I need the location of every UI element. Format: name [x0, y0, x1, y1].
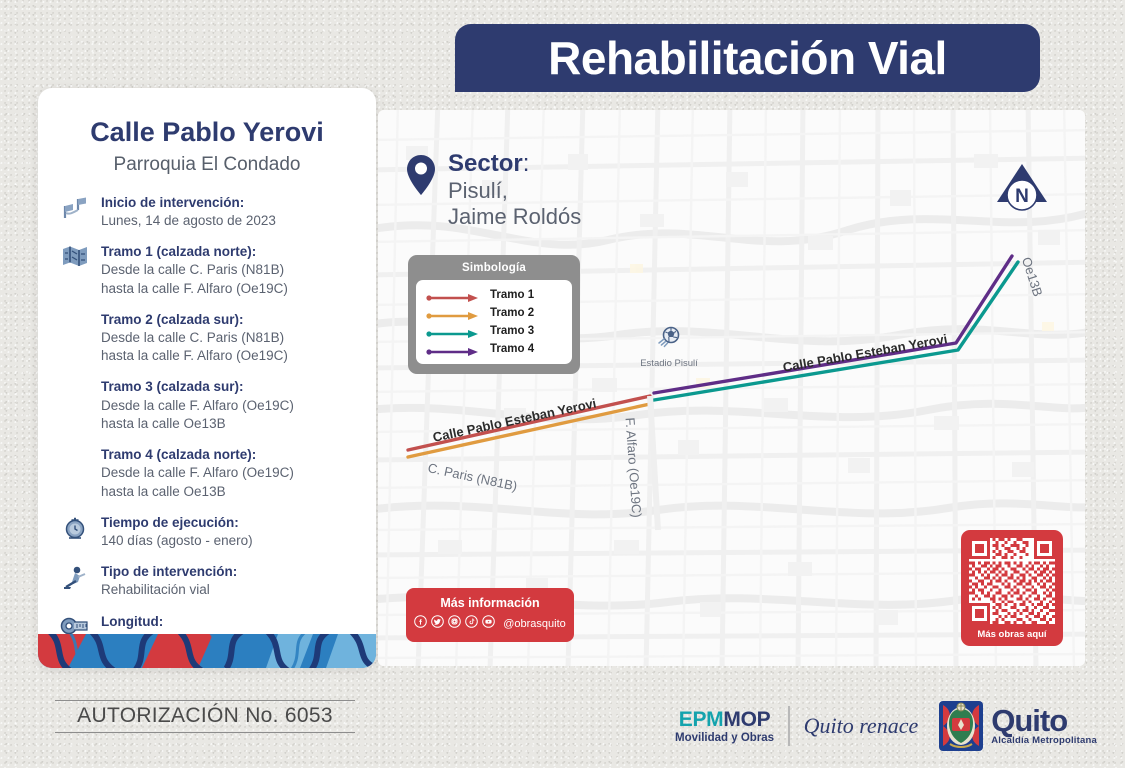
fact-tramo-4: Tramo 4 (calzada norte): Desde la calle …: [101, 446, 362, 501]
fact-tipo-intervencion: Tipo de intervención: Rehabilitación via…: [58, 563, 362, 599]
fact-value: 140 días (agosto - enero): [101, 532, 362, 550]
facts-list: Inicio de intervención: Lunes, 14 de ago…: [38, 194, 376, 649]
soccer-ball-icon: [656, 325, 682, 351]
fact-label: Tramo 2 (calzada sur):: [101, 311, 362, 329]
legend-items: Tramo 1 Tramo 2: [416, 280, 572, 364]
qr-code-panel[interactable]: Más obras aquí: [961, 530, 1063, 646]
street-name-title: Calle Pablo Yerovi: [56, 118, 358, 148]
fact-value: Desde la calle C. Paris (N81B)hasta la c…: [101, 261, 362, 297]
fact-value: Rehabilitación vial: [101, 581, 362, 599]
fact-tramo-2: Tramo 2 (calzada sur): Desde la calle C.…: [101, 311, 362, 366]
legend-color-swatch: [426, 290, 482, 300]
epmmop-tagline: Movilidad y Obras: [675, 732, 774, 744]
legend-label: Tramo 3: [490, 325, 534, 337]
fact-value: Lunes, 14 de agosto de 2023: [101, 212, 362, 230]
fact-tramo-1: Tramo 1 (calzada norte): Desde la calle …: [58, 243, 362, 298]
facebook-icon[interactable]: [414, 615, 427, 633]
page-title: Rehabilitación Vial: [548, 35, 947, 81]
fact-label: Tramo 1 (calzada norte):: [101, 243, 362, 261]
legend-title: Simbología: [416, 262, 572, 274]
fact-label: Longitud:: [101, 613, 362, 631]
flag-start-icon: [58, 194, 92, 226]
legend-item-tramo-4: Tramo 4: [426, 343, 562, 355]
legend-label: Tramo 2: [490, 307, 534, 319]
tiktok-icon[interactable]: [465, 615, 478, 633]
sector-label: Sector:: [448, 150, 581, 178]
fact-inicio-intervencion: Inicio de intervención: Lunes, 14 de ago…: [58, 194, 362, 230]
more-info-title: Más información: [412, 596, 568, 610]
quito-tagline: Alcaldía Metropolitana: [991, 735, 1097, 746]
legend-simbologia: Simbología Tramo 1: [408, 255, 580, 374]
social-handle: @obrasquito: [503, 618, 566, 630]
infographic-root: Rehabilitación Vial Calle Pablo Yerovi P…: [0, 0, 1125, 768]
legend-color-swatch: [426, 308, 482, 318]
header-banner: Rehabilitación Vial: [455, 24, 1040, 92]
poi-estadio-pisuli: Estadio Pisulí: [624, 325, 714, 369]
legend-item-tramo-3: Tramo 3: [426, 325, 562, 337]
fact-tramo-3: Tramo 3 (calzada sur): Desde la calle F.…: [101, 378, 362, 433]
fact-value: Desde la calle C. Paris (N81B)hasta la c…: [101, 329, 362, 365]
authorization-text: AUTORIZACIÓN No. 6053: [55, 704, 355, 728]
legend-label: Tramo 1: [490, 289, 534, 301]
fact-label: Tramo 4 (calzada norte):: [101, 446, 362, 464]
fact-label: Inicio de intervención:: [101, 194, 362, 212]
clock-icon: [58, 514, 92, 546]
legend-item-tramo-2: Tramo 2: [426, 307, 562, 319]
qr-code-image[interactable]: [969, 538, 1055, 624]
logo-divider: [788, 706, 790, 746]
legend-color-swatch: [426, 344, 482, 354]
legend-color-swatch: [426, 326, 482, 336]
quito-coat-of-arms-icon: [938, 700, 984, 752]
quito-wordmark: Quito: [991, 706, 1097, 735]
folded-map-icon: [58, 243, 92, 275]
fact-tiempo-ejecucion: Tiempo de ejecución: 140 días (agosto - …: [58, 514, 362, 550]
footer-logos: EPMMOP Movilidad y Obras Quito renace: [675, 700, 1097, 752]
sector-block: Sector: Pisulí, Jaime Roldós: [406, 150, 581, 230]
worker-icon: [58, 563, 92, 595]
instagram-icon[interactable]: [448, 615, 461, 633]
epmmop-logo: EPMMOP Movilidad y Obras: [675, 709, 774, 744]
sector-value-line-2: Jaime Roldós: [448, 204, 581, 230]
fact-value: Desde la calle F. Alfaro (Oe19C)hasta la…: [101, 464, 362, 500]
compass-letter: N: [1015, 186, 1029, 207]
fact-label: Tramo 3 (calzada sur):: [101, 378, 362, 396]
location-pin-icon: [406, 154, 436, 201]
fact-label: Tipo de intervención:: [101, 563, 362, 581]
youtube-icon[interactable]: [482, 615, 495, 633]
more-info-box[interactable]: Más información: [406, 588, 574, 642]
legend-label: Tramo 4: [490, 343, 534, 355]
fact-label: Tiempo de ejecución:: [101, 514, 362, 532]
parish-subtitle: Parroquia El Condado: [56, 154, 358, 176]
epmmop-wordmark: EPMMOP: [675, 709, 774, 730]
social-row: @obrasquito: [412, 615, 568, 633]
quito-renace-slogan: Quito renace: [804, 713, 919, 739]
compass-north-icon: N: [991, 158, 1053, 225]
map-panel[interactable]: Sector: Pisulí, Jaime Roldós Simbología: [378, 110, 1085, 666]
sector-value-line-1: Pisulí,: [448, 178, 581, 204]
poi-label: Estadio Pisulí: [624, 358, 714, 369]
legend-item-tramo-1: Tramo 1: [426, 289, 562, 301]
qr-caption: Más obras aquí: [969, 629, 1055, 640]
card-header: Calle Pablo Yerovi Parroquia El Condado: [38, 88, 376, 176]
fact-value: Desde la calle F. Alfaro (Oe19C)hasta la…: [101, 397, 362, 433]
quito-logo: Quito Alcaldía Metropolitana: [938, 700, 1097, 752]
twitter-icon[interactable]: [431, 615, 444, 633]
decorative-pattern: [38, 634, 376, 668]
project-info-card: Calle Pablo Yerovi Parroquia El Condado: [38, 88, 376, 668]
authorization-box: AUTORIZACIÓN No. 6053: [55, 700, 355, 733]
